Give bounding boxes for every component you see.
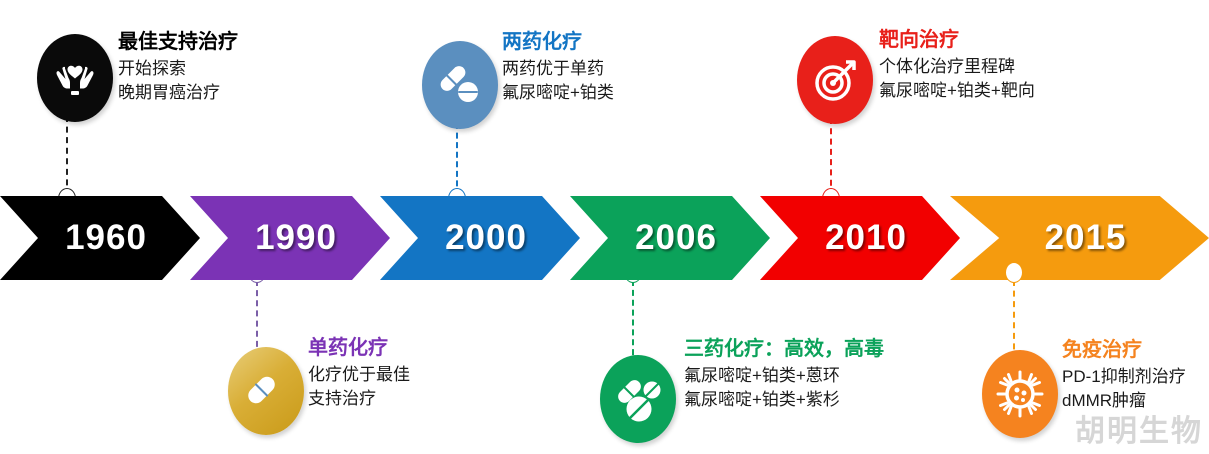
- callout-title: 免疫治疗: [1062, 338, 1186, 363]
- timeline-segment-2015[interactable]: 2015: [950, 196, 1209, 280]
- callout-title: 单药化疗: [308, 336, 410, 361]
- three-pills-icon: [600, 355, 676, 443]
- timeline-year-label: 2015: [1045, 218, 1127, 258]
- callout-line: 个体化治疗里程碑: [879, 55, 1035, 79]
- timeline-year-label: 2006: [635, 218, 717, 258]
- timeline-year-label: 2010: [825, 218, 907, 258]
- two-pills-icon: [422, 41, 498, 129]
- timeline-segment-1990[interactable]: 1990: [190, 196, 390, 280]
- callout-line: 氟尿嘧啶+铂类+蒽环: [684, 364, 884, 388]
- infographic-canvas: 196019902000200620102015 最佳支持治疗开始探索晚期胃癌治…: [0, 0, 1209, 454]
- connector-line: [632, 280, 634, 365]
- callout-line: 氟尿嘧啶+铂类: [502, 81, 614, 105]
- callout-title: 最佳支持治疗: [118, 30, 238, 55]
- connector-line: [456, 123, 458, 196]
- callout-line: PD-1抑制剂治疗: [1062, 365, 1186, 389]
- callout-line: 氟尿嘧啶+铂类+靶向: [879, 79, 1035, 103]
- callout-targeted-therapy: 靶向治疗个体化治疗里程碑氟尿嘧啶+铂类+靶向: [879, 28, 1035, 103]
- callout-line: 两药优于单药: [502, 57, 614, 81]
- connector-line: [1013, 280, 1015, 360]
- timeline-band: 196019902000200620102015: [0, 196, 1209, 280]
- timeline-segment-2000[interactable]: 2000: [380, 196, 580, 280]
- capsule-icon: [228, 347, 304, 435]
- callout-line: 氟尿嘧啶+铂类+紫杉: [684, 388, 884, 412]
- callout-immunotherapy: 免疫治疗PD-1抑制剂治疗dMMR肿瘤: [1062, 338, 1186, 413]
- target-dart-icon: [797, 36, 873, 124]
- timeline-year-label: 2000: [445, 218, 527, 258]
- callout-line: 晚期胃癌治疗: [118, 81, 238, 105]
- connector-line: [66, 116, 68, 196]
- callout-triplet-chemotherapy: 三药化疗：高效，高毒氟尿嘧啶+铂类+蒽环氟尿嘧啶+铂类+紫杉: [684, 337, 884, 412]
- callout-line: 开始探索: [118, 57, 238, 81]
- callout-line: 化疗优于最佳: [308, 363, 410, 387]
- hands-heart-icon: [37, 34, 113, 122]
- callout-best-supportive-care: 最佳支持治疗开始探索晚期胃癌治疗: [118, 30, 238, 105]
- timeline-year-label: 1960: [65, 218, 147, 258]
- timeline-segment-1960[interactable]: 1960: [0, 196, 200, 280]
- callout-line: dMMR肿瘤: [1062, 389, 1186, 413]
- virus-icon: [982, 350, 1058, 438]
- callout-title: 两药化疗: [502, 30, 614, 55]
- callout-line: 支持治疗: [308, 387, 410, 411]
- timeline-segment-2006[interactable]: 2006: [570, 196, 770, 280]
- callout-title: 靶向治疗: [879, 28, 1035, 53]
- connector-line: [256, 280, 258, 357]
- timeline-segment-2010[interactable]: 2010: [760, 196, 960, 280]
- callout-title: 三药化疗：高效，高毒: [684, 337, 884, 362]
- connector-node[interactable]: [1005, 262, 1023, 283]
- connector-line: [830, 118, 832, 196]
- timeline-year-label: 1990: [255, 218, 337, 258]
- callout-doublet-chemotherapy: 两药化疗两药优于单药氟尿嘧啶+铂类: [502, 30, 614, 105]
- callout-single-agent-chemotherapy: 单药化疗化疗优于最佳支持治疗: [308, 336, 410, 411]
